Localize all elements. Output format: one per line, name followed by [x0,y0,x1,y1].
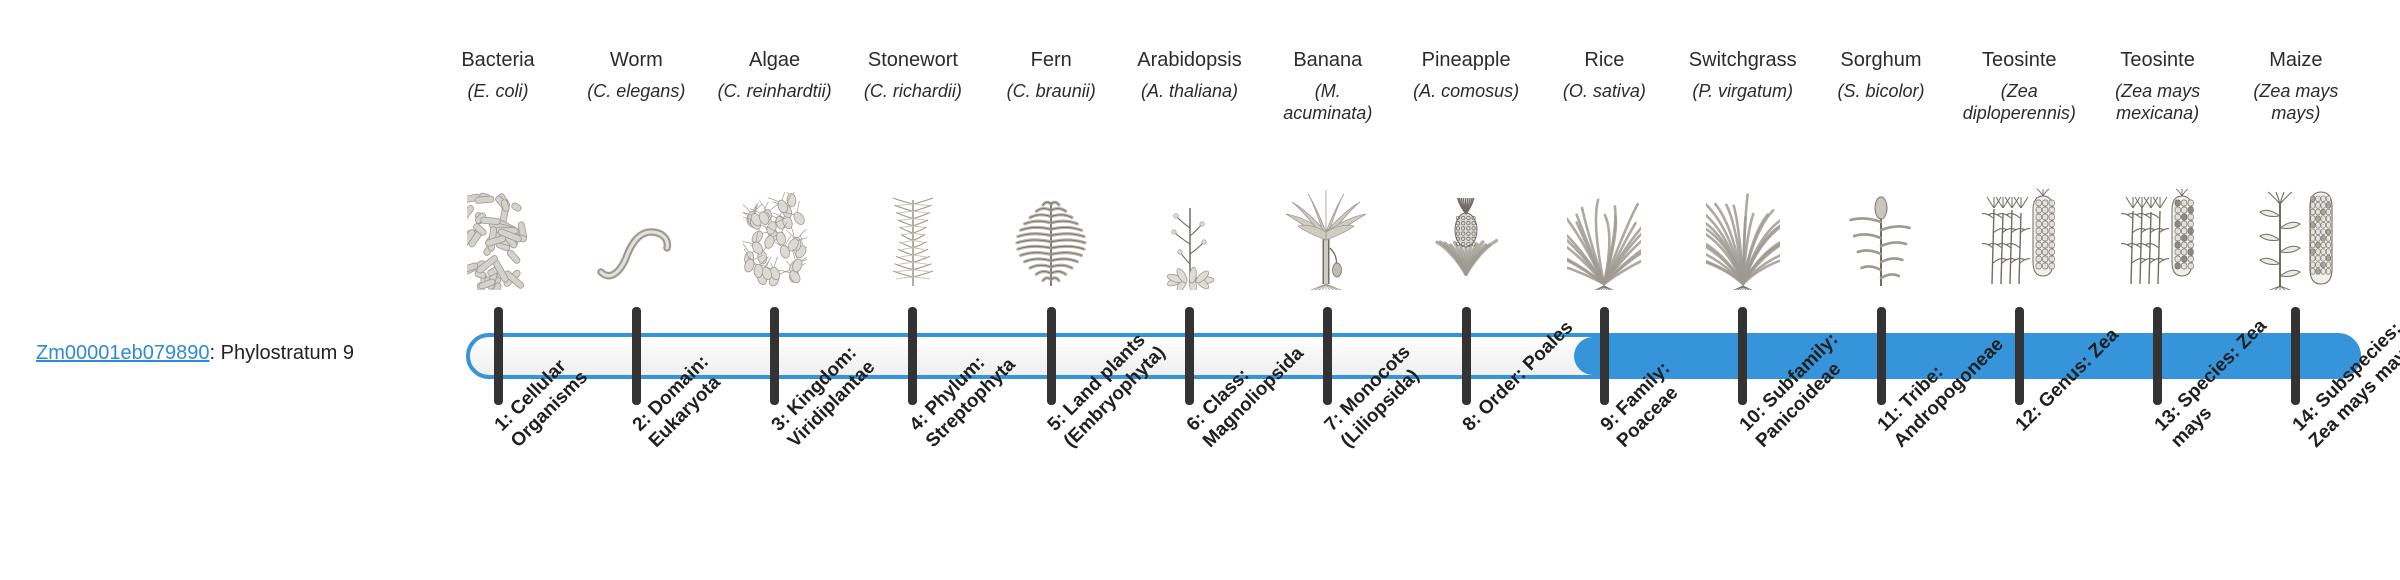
gene-id-link[interactable]: Zm00001eb079890 [36,342,209,364]
species-common-name: Stonewort [854,48,972,72]
rank-tick-5 [1047,307,1056,405]
species-column-fern-5: Fern(C. braunii) [992,48,1110,102]
stonewort-alga-illustration [854,178,972,290]
species-latin-name: (Zea mays mexicana) [2099,80,2217,124]
maize-plant-and-cob-illustration [2237,178,2355,290]
species-common-name: Switchgrass [1684,48,1802,72]
species-common-name: Rice [1545,48,1663,72]
rank-tick-4 [908,307,917,405]
rank-tick-6 [1185,307,1194,405]
rank-tick-2 [632,307,641,405]
pineapple-plant-illustration [1407,178,1525,290]
rank-tick-1 [494,307,503,405]
species-column-pineapple-8: Pineapple(A. comosus) [1407,48,1525,102]
switchgrass-plant-illustration [1684,178,1802,290]
sorghum-plant-illustration [1822,178,1940,290]
species-common-name: Algae [716,48,834,72]
species-column-arabidopsis-6: Arabidopsis(A. thaliana) [1131,48,1249,102]
rank-tick-13 [2153,307,2162,405]
species-common-name: Arabidopsis [1131,48,1249,72]
teosinte-plant-and-ear-illustration [2099,178,2217,290]
species-column-teosinte-12: Teosinte(Zea diploperennis) [1960,48,2078,124]
species-column-bacteria-1: Bacteria(E. coli) [439,48,557,102]
species-latin-name: (P. virgatum) [1684,80,1802,102]
species-common-name: Bacteria [439,48,557,72]
species-latin-name: (S. bicolor) [1822,80,1940,102]
species-column-sorghum-11: Sorghum(S. bicolor) [1822,48,1940,102]
species-latin-name: (C. braunii) [992,80,1110,102]
fern-frond-illustration [992,178,1110,290]
phylostratum-value: Phylostratum 9 [221,342,354,364]
species-column-teosinte-13: Teosinte(Zea mays mexicana) [2099,48,2217,124]
species-column-banana-7: Banana(M. acuminata) [1269,48,1387,124]
species-column-stonewort-4: Stonewort(C. richardii) [854,48,972,102]
rank-tick-11 [1877,307,1886,405]
species-latin-name: (E. coli) [439,80,557,102]
rank-tick-12 [2015,307,2024,405]
species-common-name: Teosinte [2099,48,2217,72]
rank-tick-8 [1462,307,1471,405]
gene-label: Zm00001eb079890: Phylostratum 9 [36,341,354,365]
species-latin-name: (C. richardii) [854,80,972,102]
species-latin-name: (Zea mays mays) [2237,80,2355,124]
species-column-rice-9: Rice(O. sativa) [1545,48,1663,102]
species-column-switchgrass-10: Switchgrass(P. virgatum) [1684,48,1802,102]
species-column-worm-2: Worm(C. elegans) [577,48,695,102]
teosinte-plant-and-ear-illustration [1960,178,2078,290]
species-latin-name: (A. comosus) [1407,80,1525,102]
gene-label-separator: : [209,342,220,364]
species-common-name: Sorghum [1822,48,1940,72]
species-common-name: Maize [2237,48,2355,72]
rank-tick-10 [1738,307,1747,405]
species-common-name: Banana [1269,48,1387,72]
green-algae-cells-illustration [716,178,834,290]
banana-plant-illustration [1269,178,1387,290]
species-latin-name: (C. reinhardtii) [716,80,834,102]
species-column-algae-3: Algae(C. reinhardtii) [716,48,834,102]
bacteria-rods-illustration [439,178,557,290]
phylostratum-figure: Zm00001eb079890: Phylostratum 9 Bacteria… [0,0,2400,580]
species-common-name: Pineapple [1407,48,1525,72]
species-common-name: Worm [577,48,695,72]
species-common-name: Fern [992,48,1110,72]
rank-tick-9 [1600,307,1609,405]
species-latin-name: (Zea diploperennis) [1960,80,2078,124]
rank-tick-7 [1323,307,1332,405]
species-latin-name: (A. thaliana) [1131,80,1249,102]
rank-tick-14 [2291,307,2300,405]
rank-tick-3 [770,307,779,405]
nematode-worm-illustration [577,178,695,290]
species-common-name: Teosinte [1960,48,2078,72]
species-latin-name: (C. elegans) [577,80,695,102]
arabidopsis-rosette-illustration [1131,178,1249,290]
species-latin-name: (M. acuminata) [1269,80,1387,124]
species-latin-name: (O. sativa) [1545,80,1663,102]
species-column-maize-14: Maize(Zea mays mays) [2237,48,2355,124]
rice-plant-illustration [1545,178,1663,290]
